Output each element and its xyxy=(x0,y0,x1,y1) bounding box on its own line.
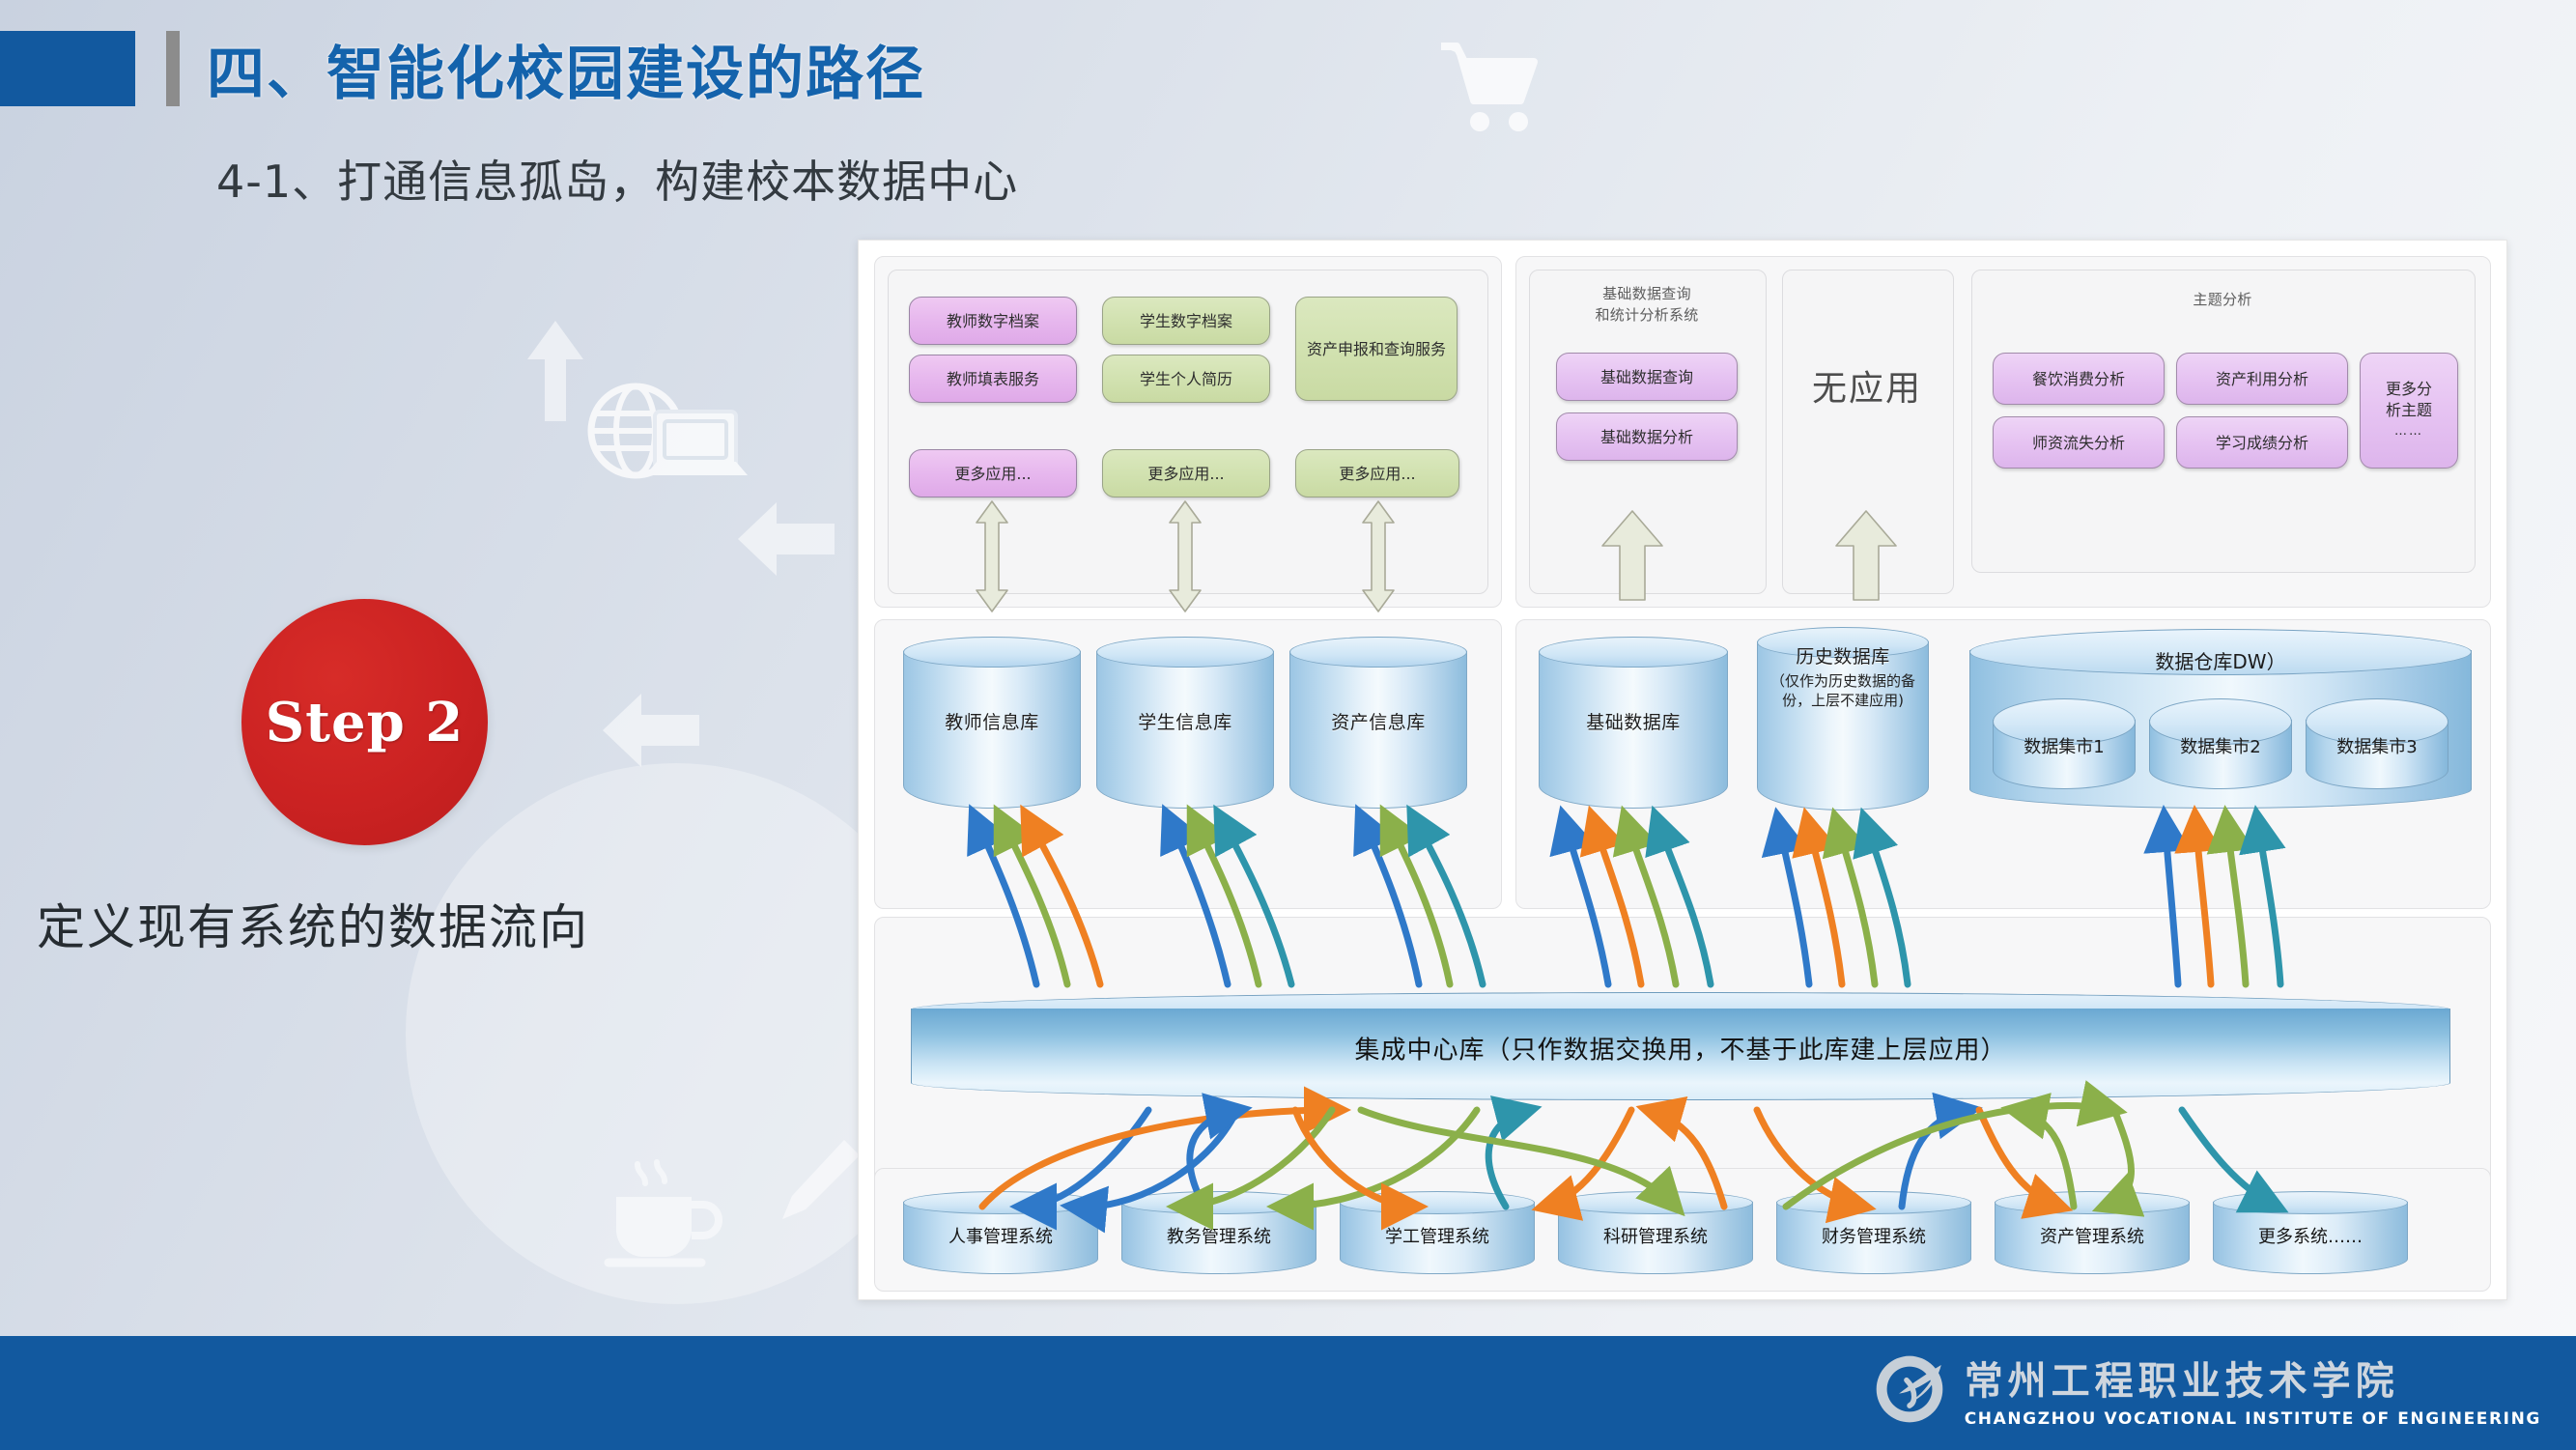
data-mart-label: 数据集市1 xyxy=(1993,733,2136,758)
step-caption: 定义现有系统的数据流向 xyxy=(37,889,771,958)
data-warehouse-label: 数据仓库DW） xyxy=(1969,646,2472,674)
data-warehouse-cylinder[interactable]: 数据仓库DW） 数据集市1 数据集市2 数据集市3 xyxy=(1969,629,2472,809)
database-cylinder[interactable]: 教师信息库 xyxy=(903,637,1081,809)
app-pill-more-theme[interactable]: 更多分 析主题 …… xyxy=(2360,353,2458,469)
institution-logo-mark xyxy=(1872,1351,1947,1427)
step-badge: Step 2 xyxy=(241,599,488,845)
source-system-label: 财务管理系统 xyxy=(1776,1223,1971,1248)
more-theme-line2: 析主题 xyxy=(2386,400,2432,421)
database-note: （仅作为历史数据的备份，上层不建应用) xyxy=(1761,671,1925,710)
source-system-cylinder[interactable]: 更多系统…… xyxy=(2213,1191,2408,1274)
data-mart-label: 数据集市3 xyxy=(2306,733,2449,758)
app-pill[interactable]: 资产申报和查询服务 xyxy=(1295,297,1458,401)
source-system-cylinder[interactable]: 财务管理系统 xyxy=(1776,1191,1971,1274)
data-mart-label: 数据集市2 xyxy=(2149,733,2292,758)
no-application-label: 无应用 xyxy=(1782,360,1952,411)
title-divider-bar xyxy=(166,31,180,106)
title-accent-swatch xyxy=(0,31,135,106)
source-system-label: 科研管理系统 xyxy=(1558,1223,1753,1248)
cylinder-top xyxy=(903,637,1081,668)
app-pill[interactable]: 师资流失分析 xyxy=(1993,416,2165,469)
app-pill[interactable]: 学生数字档案 xyxy=(1102,297,1270,345)
app-pill[interactable]: 基础数据分析 xyxy=(1556,412,1738,461)
database-label: 历史数据库 xyxy=(1757,646,1929,668)
cylinder-top xyxy=(1558,1191,1753,1214)
more-theme-line3: …… xyxy=(2394,421,2423,442)
integration-hub-cylinder[interactable]: 集成中心库（只作数据交换用，不基于此库建上层应用） xyxy=(911,992,2450,1100)
arrow-left-icon xyxy=(734,495,840,582)
app-group-query-title-line2: 和统计分析系统 xyxy=(1529,306,1765,325)
cylinder-top xyxy=(1096,637,1274,668)
database-label: 学生信息库 xyxy=(1096,712,1274,733)
database-label: 基础数据库 xyxy=(1539,712,1728,733)
block-arrow-bidirectional xyxy=(1168,499,1203,617)
architecture-diagram: 教师数字档案 教师填表服务 更多应用... 学生数字档案 学生个人简历 更多应用… xyxy=(858,240,2507,1300)
page-subtitle: 4-1、打通信息孤岛，构建校本数据中心 xyxy=(216,147,1018,211)
data-mart-cylinder[interactable]: 数据集市3 xyxy=(2306,698,2449,789)
app-pill[interactable]: 教师填表服务 xyxy=(909,355,1077,403)
source-system-label: 学工管理系统 xyxy=(1340,1223,1535,1248)
app-pill[interactable]: 资产利用分析 xyxy=(2176,353,2348,405)
cylinder-top xyxy=(1539,637,1728,668)
app-group-query-title-line1: 基础数据查询 xyxy=(1529,285,1765,303)
cylinder-top xyxy=(2213,1191,2408,1214)
app-pill[interactable]: 学生个人简历 xyxy=(1102,355,1270,403)
slide-header: 四、智能化校园建设的路径 xyxy=(0,31,2576,106)
page-title: 四、智能化校园建设的路径 xyxy=(207,27,925,111)
block-arrow-up xyxy=(1834,509,1898,606)
institution-name-cn: 常州工程职业技术学院 xyxy=(1965,1350,2399,1406)
cylinder-top xyxy=(1289,637,1467,668)
source-system-cylinder[interactable]: 资产管理系统 xyxy=(1995,1191,2190,1274)
step-badge-label: Step 2 xyxy=(266,691,465,754)
cylinder-top xyxy=(1340,1191,1535,1214)
source-system-label: 人事管理系统 xyxy=(903,1223,1098,1248)
database-label: 资产信息库 xyxy=(1289,712,1467,733)
app-pill[interactable]: 更多应用... xyxy=(1295,449,1459,498)
app-pill[interactable]: 更多应用... xyxy=(1102,449,1270,498)
globe-laptop-icon xyxy=(580,375,753,510)
app-pill[interactable]: 学习成绩分析 xyxy=(2176,416,2348,469)
database-label: 教师信息库 xyxy=(903,712,1081,733)
arrow-up-icon xyxy=(522,319,589,425)
source-system-cylinder[interactable]: 人事管理系统 xyxy=(903,1191,1098,1274)
block-arrow-bidirectional xyxy=(1361,499,1396,617)
app-group-theme-title: 主题分析 xyxy=(1971,291,2474,309)
slide-footer: 常州工程职业技术学院 CHANGZHOU VOCATIONAL INSTITUT… xyxy=(0,1336,2576,1450)
app-pill[interactable]: 更多应用... xyxy=(909,449,1077,498)
database-cylinder[interactable]: 资产信息库 xyxy=(1289,637,1467,809)
cylinder-top xyxy=(903,1191,1098,1214)
block-arrow-bidirectional xyxy=(975,499,1009,617)
source-system-label: 更多系统…… xyxy=(2213,1223,2408,1248)
app-pill[interactable]: 基础数据查询 xyxy=(1556,353,1738,401)
database-cylinder[interactable]: 学生信息库 xyxy=(1096,637,1274,809)
source-system-cylinder[interactable]: 科研管理系统 xyxy=(1558,1191,1753,1274)
cylinder-top xyxy=(1776,1191,1971,1214)
source-system-label: 教务管理系统 xyxy=(1121,1223,1316,1248)
source-system-cylinder[interactable]: 学工管理系统 xyxy=(1340,1191,1535,1274)
history-database-cylinder[interactable]: 历史数据库 （仅作为历史数据的备份，上层不建应用) xyxy=(1757,627,1929,810)
app-pill[interactable]: 教师数字档案 xyxy=(909,297,1077,345)
cylinder-top xyxy=(1995,1191,2190,1214)
app-pill[interactable]: 餐饮消费分析 xyxy=(1993,353,2165,405)
more-theme-line1: 更多分 xyxy=(2386,379,2432,400)
cylinder-top xyxy=(1121,1191,1316,1214)
source-system-cylinder[interactable]: 教务管理系统 xyxy=(1121,1191,1316,1274)
data-mart-cylinder[interactable]: 数据集市2 xyxy=(2149,698,2292,789)
institution-logo: 常州工程职业技术学院 CHANGZHOU VOCATIONAL INSTITUT… xyxy=(1872,1350,2541,1429)
block-arrow-up xyxy=(1600,509,1664,606)
arrow-left-icon xyxy=(599,686,705,773)
integration-hub-label: 集成中心库（只作数据交换用，不基于此库建上层应用） xyxy=(911,1031,2450,1066)
institution-name-en: CHANGZHOU VOCATIONAL INSTITUTE OF ENGINE… xyxy=(1965,1409,2541,1429)
source-system-label: 资产管理系统 xyxy=(1995,1223,2190,1248)
data-mart-cylinder[interactable]: 数据集市1 xyxy=(1993,698,2136,789)
base-database-cylinder[interactable]: 基础数据库 xyxy=(1539,637,1728,809)
